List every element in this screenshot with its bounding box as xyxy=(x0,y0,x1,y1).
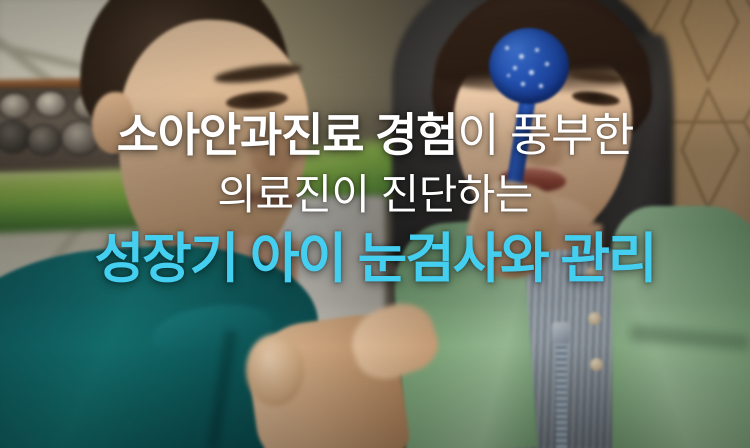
headline-line-1: 소아안과진료 경험이 풍부한 xyxy=(0,112,750,158)
headline-line-2: 의료진이 진단하는 xyxy=(0,174,750,216)
headline-line-3-accent: 성장기 아이 눈검사와 관리 xyxy=(0,232,750,286)
headline-line-1-emphasis: 소아안과진료 경험 xyxy=(117,109,458,161)
eye-clinic-hero-banner: 소아안과진료 경험이 풍부한 의료진이 진단하는 성장기 아이 눈검사와 관리 xyxy=(0,0,750,448)
headline-line-1-tail: 이 풍부한 xyxy=(457,109,633,161)
headline-block: 소아안과진료 경험이 풍부한 의료진이 진단하는 성장기 아이 눈검사와 관리 xyxy=(0,112,750,286)
